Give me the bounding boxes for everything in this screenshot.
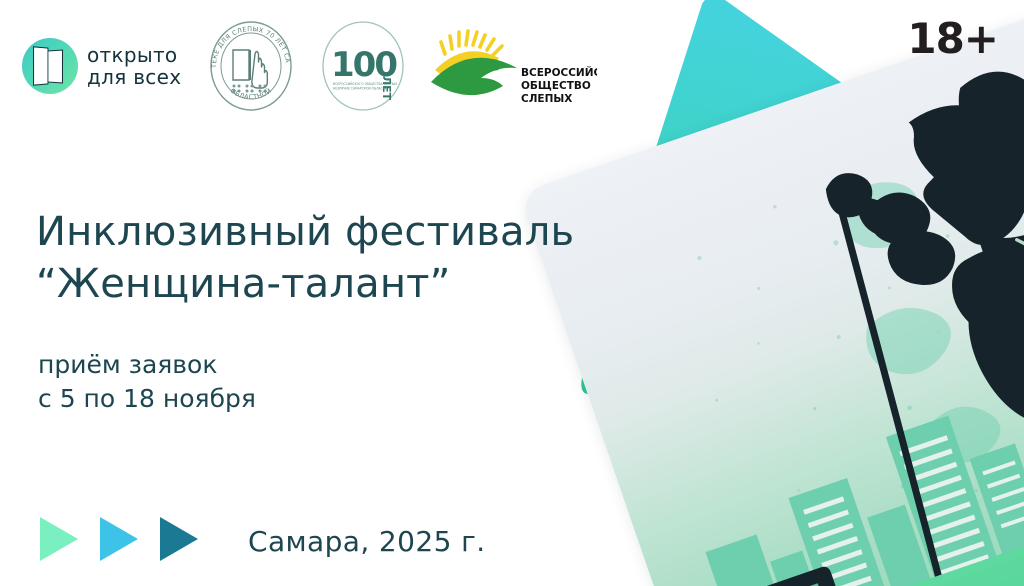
logo-library-70-stamp: БИБЛИОТЕКЕ ДЛЯ СЛЕПЫХ 70 ЛЕТ САМАРСКОЙ О… <box>203 14 299 118</box>
logo-100-years: 100 ЛЕТ ВСЕРОССИЙСКОГО ОБЩЕСТВА СЛЕПЫХ Н… <box>315 14 411 118</box>
logo-open-line1: открыто <box>87 43 177 67</box>
headline-line-2: “Женщина-талант” <box>36 258 574 310</box>
play-triangle-mint-icon <box>40 517 78 561</box>
logo-vos: ВСЕРОССИЙСКОЕ ОБЩЕСТВО СЛЕПЫХ <box>425 20 597 112</box>
headline-line-1: Инклюзивный фестиваль <box>36 209 574 255</box>
logo-open-line2: для всех <box>87 65 181 89</box>
subline-line-1: приём заявок <box>38 350 217 379</box>
poster-canvas: открыто для всех БИБЛИОТЕКЕ ДЛЯ СЛЕПЫХ 7… <box>0 0 1024 586</box>
play-triangle-sky-icon <box>100 517 138 561</box>
svg-text:ВСЕРОССИЙСКОГО ОБЩЕСТВА СЛЕПЫХ: ВСЕРОССИЙСКОГО ОБЩЕСТВА СЛЕПЫХ <box>333 81 398 86</box>
city-and-year: Самара, 2025 г. <box>248 525 486 558</box>
svg-text:ОБЩЕСТВО: ОБЩЕСТВО <box>521 80 591 92</box>
play-triangles-decoration <box>40 517 198 561</box>
subline-line-2: с 5 по 18 ноября <box>38 382 256 416</box>
age-rating-badge: 18+ <box>907 14 998 63</box>
svg-text:ВСЕРОССИЙСКОЕ: ВСЕРОССИЙСКОЕ <box>521 66 597 79</box>
play-triangle-deep-teal-icon <box>160 517 198 561</box>
logo-open-for-all-text: открыто для всех <box>87 44 181 89</box>
svg-text:НЕЗРЯЧИЕ САМАРСКОЙ ОБЛАСТИ: НЕЗРЯЧИЕ САМАРСКОЙ ОБЛАСТИ <box>333 86 388 91</box>
logo-open-for-all: открыто для всех <box>22 38 181 94</box>
svg-text:ОБЛАСТНОЙ: ОБЛАСТНОЙ <box>229 86 273 101</box>
page-title: Инклюзивный фестиваль “Женщина-талант” <box>36 206 574 310</box>
logo-bar: открыто для всех БИБЛИОТЕКЕ ДЛЯ СЛЕПЫХ 7… <box>22 14 622 118</box>
application-period: приём заявок с 5 по 18 ноября <box>38 348 256 416</box>
open-book-icon <box>22 38 78 94</box>
svg-text:СЛЕПЫХ: СЛЕПЫХ <box>521 93 572 105</box>
